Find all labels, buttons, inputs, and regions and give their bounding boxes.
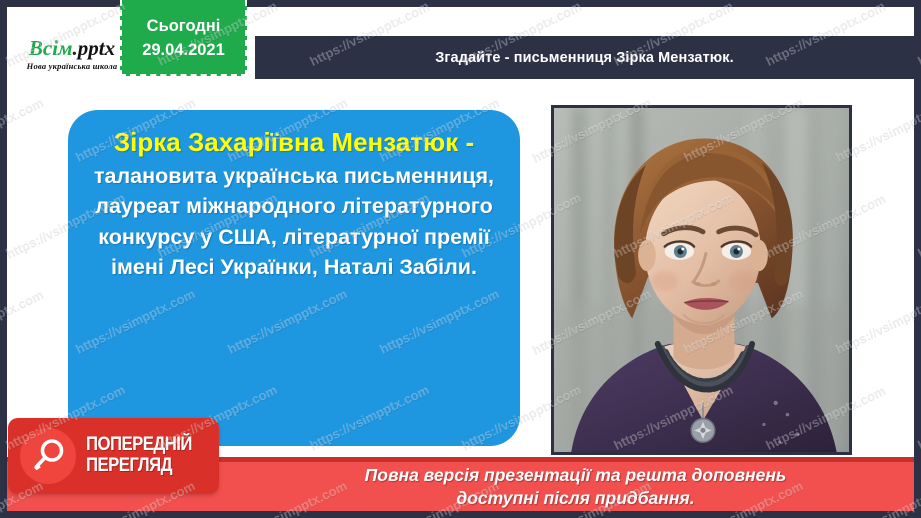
logo-word-secondary: pptx (78, 36, 115, 60)
page-title: Згадайте - письменниця Зірка Мензатюк. (435, 50, 734, 66)
today-label: Сьогодні (147, 15, 221, 39)
preview-badge-labels: ПОПЕРЕДНІЙ ПЕРЕГЛЯД (86, 435, 206, 476)
purchase-notice-text: Повна версія презентації та решта доповн… (135, 464, 787, 509)
content-paragraph: Зірка Захаріївна Мензатюк - талановита у… (86, 124, 502, 283)
logo-word-primary: Всім (29, 36, 73, 60)
preview-badge-line2: ПЕРЕГЛЯД (86, 456, 192, 477)
slide-header-bar: Згадайте - письменниця Зірка Мензатюк. (255, 36, 914, 79)
magnifier-icon (20, 428, 76, 484)
brand-logo[interactable]: Всім.pptx Нова українська школа (12, 30, 132, 78)
watermark-text: https://vsimpptx.com (915, 0, 921, 69)
content-panel: Зірка Захаріївна Мензатюк - талановита у… (68, 110, 520, 446)
watermark-text: https://vsimpptx.com (915, 190, 921, 261)
watermark-text: https://vsimpptx.com (915, 382, 921, 453)
purchase-notice-line2: доступні після придбання. (365, 487, 787, 509)
preview-badge-line1: ПОПЕРЕДНІЙ (86, 435, 192, 456)
today-date: 29.04.2021 (142, 39, 225, 63)
author-description: талановита українська письменниця, лауре… (94, 164, 494, 280)
slide-canvas: Згадайте - письменниця Зірка Мензатюк. В… (0, 0, 921, 518)
author-portrait-photo (551, 105, 852, 455)
portrait-illustration (554, 108, 849, 452)
author-name-highlight: Зірка Захаріївна Мензатюк - (114, 127, 474, 157)
purchase-notice-line1: Повна версія презентації та решта доповн… (365, 464, 787, 486)
today-date-badge: Сьогодні 29.04.2021 (120, 0, 247, 76)
preview-badge[interactable]: ПОПЕРЕДНІЙ ПЕРЕГЛЯД (8, 418, 219, 494)
logo-subtitle: Нова українська школа (27, 61, 118, 71)
logo-wordmark: Всім.pptx (29, 38, 115, 59)
